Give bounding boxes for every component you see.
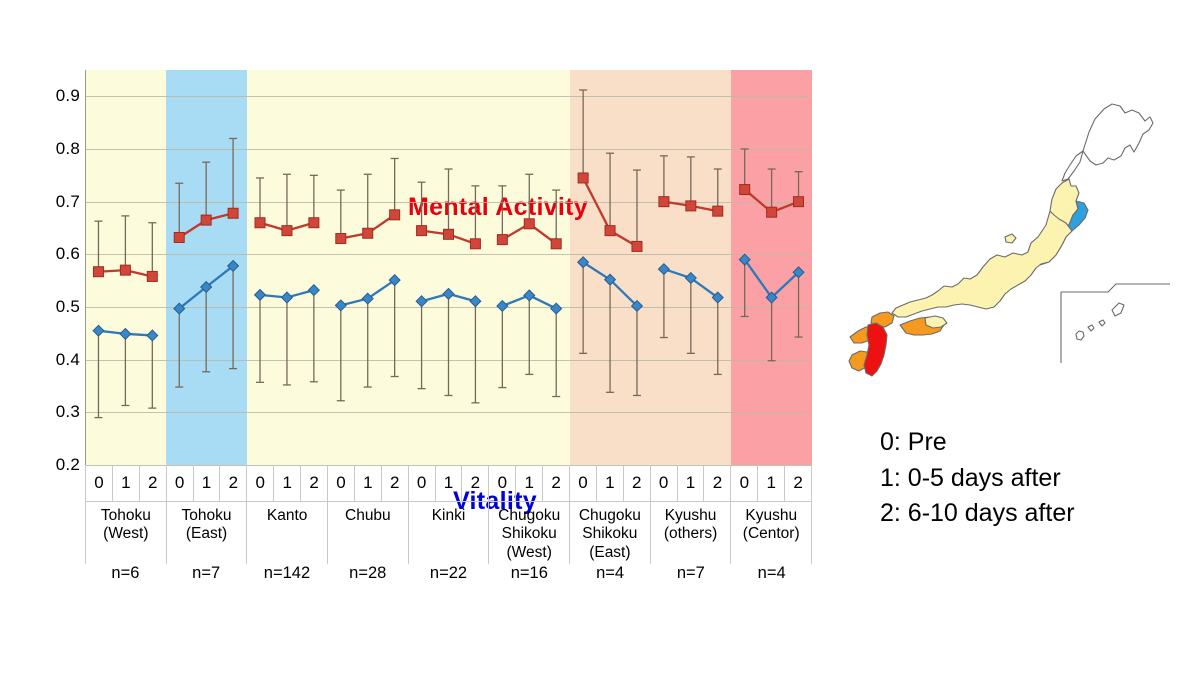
figure-root: 0.90.80.70.60.50.40.30.2 Mental Activity… <box>0 0 1200 675</box>
x-axis-tick-label: 0 <box>85 465 113 501</box>
x-axis-tick-label: 2 <box>220 465 247 501</box>
mental-activity-marker <box>767 207 777 217</box>
okinawa-island-4 <box>1112 303 1124 316</box>
x-axis-tick-label: 1 <box>678 465 705 501</box>
x-axis-tick-label: 1 <box>274 465 301 501</box>
sample-size-label: n=22 <box>408 564 489 598</box>
mental-activity-marker <box>282 226 292 236</box>
x-axis-tick-label: 1 <box>355 465 382 501</box>
mental-activity-marker <box>794 197 804 207</box>
mental-activity-marker <box>578 173 588 183</box>
x-axis-tick-label: 0 <box>731 465 758 501</box>
sample-size-label: n=16 <box>489 564 570 598</box>
legend-line-0: 0: Pre <box>880 425 1075 461</box>
x-axis-group-label: Kanto <box>247 502 328 564</box>
vitality-marker <box>120 328 131 339</box>
sample-size-label: n=28 <box>327 564 408 598</box>
x-axis: 012012012012012012012012012 Tohoku(West)… <box>85 465 812 598</box>
okinawa-island-2 <box>1088 325 1094 331</box>
sample-size-label: n=7 <box>650 564 731 598</box>
x-axis-group-label: ChugokuShikoku(West) <box>489 502 570 564</box>
sample-size-label: n=6 <box>85 564 166 598</box>
vitality-marker <box>497 301 508 312</box>
mental-activity-marker <box>147 271 157 281</box>
y-axis-tick-label: 0.9 <box>36 86 80 106</box>
right-panel: 0: Pre 1: 0-5 days after 2: 6-10 days af… <box>830 0 1200 675</box>
x-axis-group-label: Tohoku(East) <box>167 502 248 564</box>
mental-activity-marker <box>551 239 561 249</box>
okinawa-islands <box>1076 331 1084 340</box>
x-axis-group-label: Kinki <box>409 502 490 564</box>
vitality-marker <box>524 290 535 301</box>
x-axis-tick-label: 1 <box>194 465 221 501</box>
x-axis-tick-label: 2 <box>462 465 489 501</box>
x-axis-tick-label: 2 <box>704 465 731 501</box>
japan-map-svg <box>840 55 1190 405</box>
vitality-marker <box>416 296 427 307</box>
vitality-marker <box>255 289 266 300</box>
mental-activity-marker <box>740 185 750 195</box>
x-axis-tick-label: 0 <box>328 465 355 501</box>
vitality-marker <box>282 292 293 303</box>
vitality-marker <box>659 264 670 275</box>
x-axis-tick-label: 2 <box>301 465 328 501</box>
mental-activity-marker <box>228 208 238 218</box>
legend: 0: Pre 1: 0-5 days after 2: 6-10 days af… <box>880 425 1075 532</box>
x-axis-tick-label: 0 <box>651 465 678 501</box>
y-axis-tick-label: 0.3 <box>36 402 80 422</box>
mental-activity-marker <box>632 241 642 251</box>
mental-activity-marker <box>605 226 615 236</box>
mental-activity-marker <box>93 267 103 277</box>
mental-activity-marker <box>120 265 130 275</box>
mental-activity-marker <box>524 219 534 229</box>
mental-activity-marker <box>309 218 319 228</box>
vitality-marker <box>470 296 481 307</box>
y-axis-tick-label: 0.7 <box>36 192 80 212</box>
region-hokkaido <box>1083 104 1153 165</box>
region-kyushu-central-highlight <box>864 323 887 376</box>
japan-map <box>840 55 1190 405</box>
x-axis-tick-row: 012012012012012012012012012 <box>85 465 812 502</box>
y-axis-tick-label: 0.6 <box>36 244 80 264</box>
mental-activity-marker <box>363 228 373 238</box>
mental-activity-marker <box>444 229 454 239</box>
x-axis-tick-label: 1 <box>758 465 785 501</box>
chart-panel: 0.90.80.70.60.50.40.30.2 Mental Activity… <box>0 0 830 675</box>
x-axis-tick-label: 2 <box>382 465 409 501</box>
mental-activity-marker <box>659 197 669 207</box>
mental-activity-marker <box>686 201 696 211</box>
x-axis-group-label: Tohoku(West) <box>85 502 167 564</box>
x-axis-group-label: Kyushu(Centor) <box>731 502 812 564</box>
x-axis-tick-label: 1 <box>113 465 140 501</box>
vitality-marker <box>93 325 104 336</box>
vitality-marker <box>551 303 562 314</box>
x-axis-group-label: ChugokuShikoku(East) <box>570 502 651 564</box>
sample-size-label: n=4 <box>570 564 651 598</box>
y-axis-tick-label: 0.5 <box>36 297 80 317</box>
vitality-marker <box>147 330 158 341</box>
x-axis-group-row: Tohoku(West)Tohoku(East)KantoChubuKinkiC… <box>85 502 812 564</box>
mental-activity-marker <box>255 218 265 228</box>
x-axis-tick-label: 0 <box>247 465 274 501</box>
x-axis-tick-label: 2 <box>543 465 570 501</box>
sample-size-label: n=142 <box>247 564 328 598</box>
x-axis-tick-label: 0 <box>570 465 597 501</box>
mental-activity-marker <box>713 206 723 216</box>
x-axis-group-label: Chubu <box>328 502 409 564</box>
x-axis-tick-label: 2 <box>785 465 812 501</box>
y-axis-tick-label: 0.2 <box>36 455 80 475</box>
mental-activity-marker <box>470 239 480 249</box>
mental-activity-marker <box>201 215 211 225</box>
x-axis-tick-label: 1 <box>597 465 624 501</box>
y-axis-tick-label: 0.4 <box>36 350 80 370</box>
x-axis-tick-label: 1 <box>516 465 543 501</box>
vitality-marker <box>443 288 454 299</box>
legend-line-1: 1: 0-5 days after <box>880 461 1075 497</box>
x-axis-tick-label: 0 <box>489 465 516 501</box>
vitality-marker <box>308 285 319 296</box>
region-honshu-main <box>892 211 1072 317</box>
okinawa-inset-frame <box>1061 284 1170 363</box>
x-axis-tick-label: 2 <box>624 465 651 501</box>
x-axis-group-label: Kyushu(others) <box>651 502 732 564</box>
mental-activity-marker <box>390 210 400 220</box>
x-axis-tick-label: 2 <box>140 465 167 501</box>
y-axis-tick-label: 0.8 <box>36 139 80 159</box>
sado-island <box>1005 234 1016 243</box>
sample-size-label: n=7 <box>166 564 247 598</box>
vitality-marker <box>335 300 346 311</box>
okinawa-island-3 <box>1099 320 1105 326</box>
mental-activity-marker <box>174 232 184 242</box>
x-axis-tick-label: 0 <box>409 465 436 501</box>
region-hokkaido-tail <box>1062 151 1083 181</box>
sample-size-label: n=4 <box>731 564 812 598</box>
x-axis-tick-label: 0 <box>167 465 194 501</box>
x-axis-sample-size-row: n=6n=7n=142n=28n=22n=16n=4n=7n=4 <box>85 564 812 598</box>
legend-line-2: 2: 6-10 days after <box>880 496 1075 532</box>
series-overlay <box>85 70 812 465</box>
x-axis-tick-label: 1 <box>436 465 463 501</box>
mental-activity-marker <box>336 234 346 244</box>
mental-activity-marker <box>497 235 507 245</box>
y-axis-tick-labels: 0.90.80.70.60.50.40.30.2 <box>30 70 80 465</box>
mental-activity-marker <box>417 226 427 236</box>
